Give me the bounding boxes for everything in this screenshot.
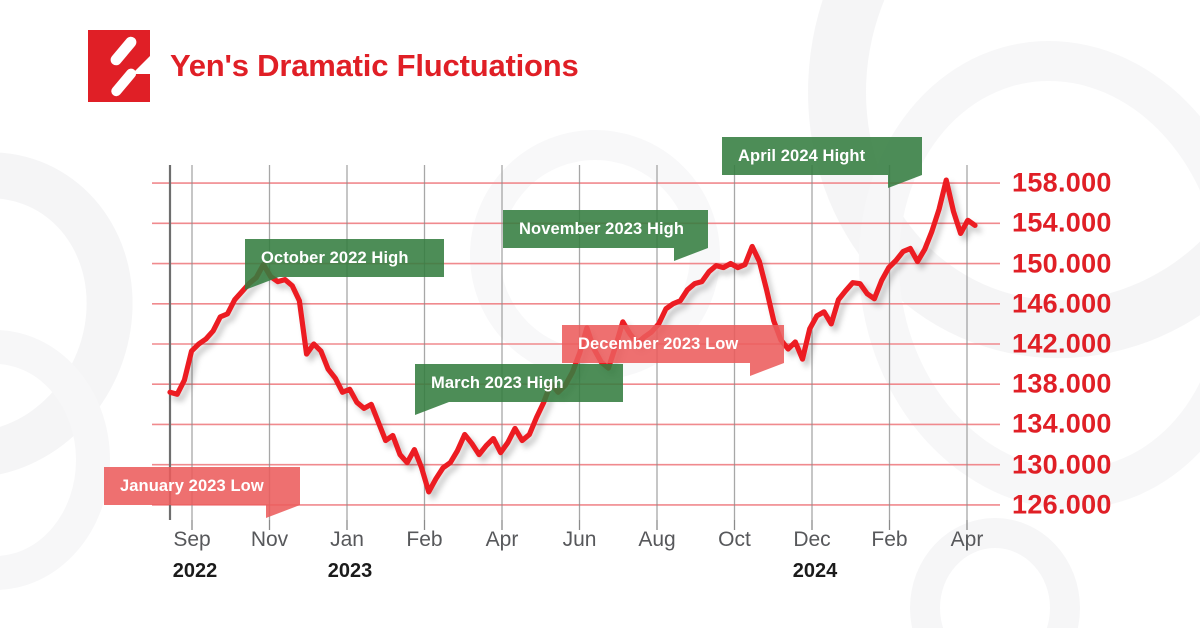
annotation-label: January 2023 Low	[120, 477, 264, 496]
callout-tail	[266, 505, 300, 518]
annotation-label: November 2023 High	[519, 220, 684, 239]
annotation-label: October 2022 High	[261, 249, 409, 268]
callout-tail	[415, 402, 449, 415]
annotation-label: March 2023 High	[431, 374, 564, 393]
annotation-callout-dec-2023-low[interactable]: December 2023 Low	[562, 325, 784, 363]
callout-tail	[888, 175, 922, 188]
infographic-canvas: Yen's Dramatic Fluctuations 126.000130.0…	[0, 0, 1200, 628]
annotation-callout-nov-2023-high[interactable]: November 2023 High	[503, 210, 708, 248]
annotation-callout-mar-2023-high[interactable]: March 2023 High	[415, 364, 623, 402]
annotation-label: April 2024 Hight	[738, 147, 865, 166]
callout-tail	[245, 277, 279, 290]
annotation-callouts: October 2022 HighJanuary 2023 LowMarch 2…	[0, 0, 1200, 628]
annotation-callout-jan-2023-low[interactable]: January 2023 Low	[104, 467, 300, 505]
annotation-label: December 2023 Low	[578, 335, 738, 354]
annotation-callout-apr-2024-high[interactable]: April 2024 Hight	[722, 137, 922, 175]
annotation-callout-oct-2022-high[interactable]: October 2022 High	[245, 239, 444, 277]
callout-tail	[750, 363, 784, 376]
callout-tail	[674, 248, 708, 261]
